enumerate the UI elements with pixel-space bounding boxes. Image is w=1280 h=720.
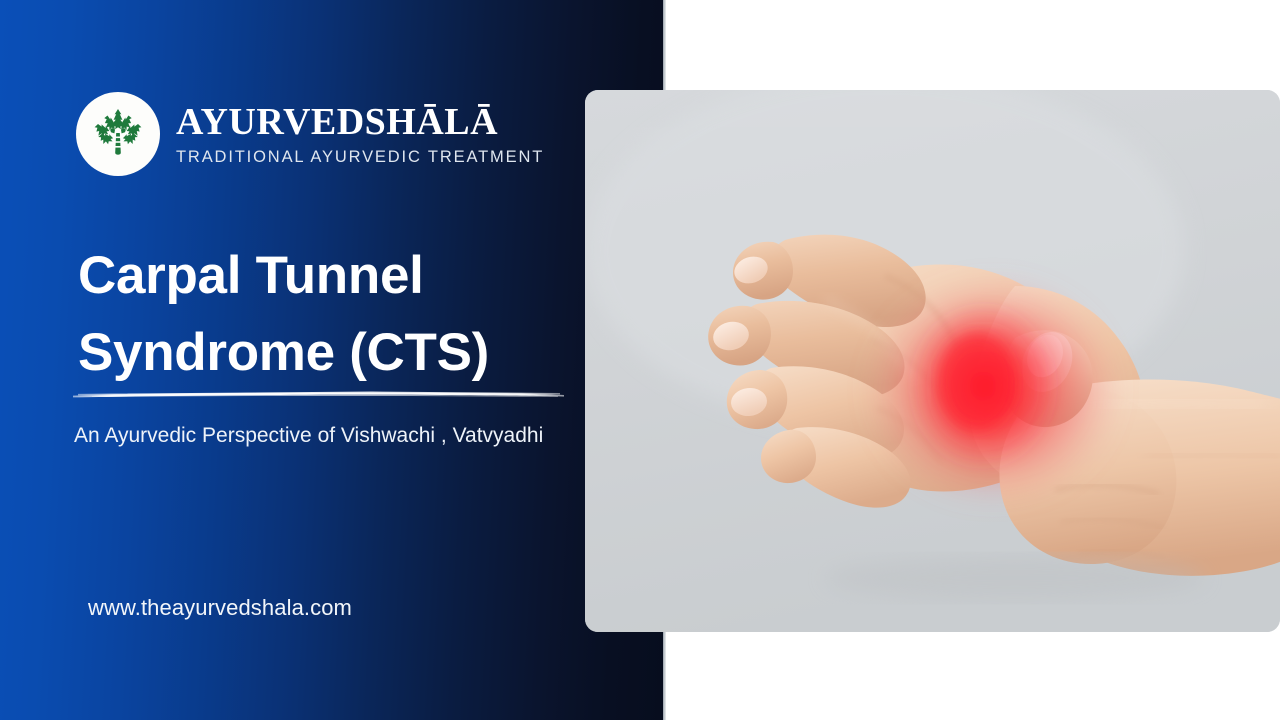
brand-tagline: TRADITIONAL AYURVEDIC TREATMENT [176, 148, 544, 167]
brushstroke-divider [72, 389, 565, 399]
slide-subtitle: An Ayurvedic Perspective of Vishwachi , … [74, 420, 574, 451]
slide-title: Carpal Tunnel Syndrome (CTS) [78, 238, 598, 392]
brand-wordmark: AYURVEDSHĀLĀ TRADITIONAL AYURVEDIC TREAT… [176, 101, 544, 167]
website-url: www.theayurvedshala.com [88, 595, 352, 621]
brand-name: AYURVEDSHĀLĀ [176, 103, 544, 142]
tree-icon [76, 92, 160, 176]
wrist-pain-photo [585, 90, 1280, 632]
presentation-slide: AYURVEDSHĀLĀ TRADITIONAL AYURVEDIC TREAT… [0, 0, 1280, 720]
brand-logo: AYURVEDSHĀLĀ TRADITIONAL AYURVEDIC TREAT… [76, 92, 544, 176]
